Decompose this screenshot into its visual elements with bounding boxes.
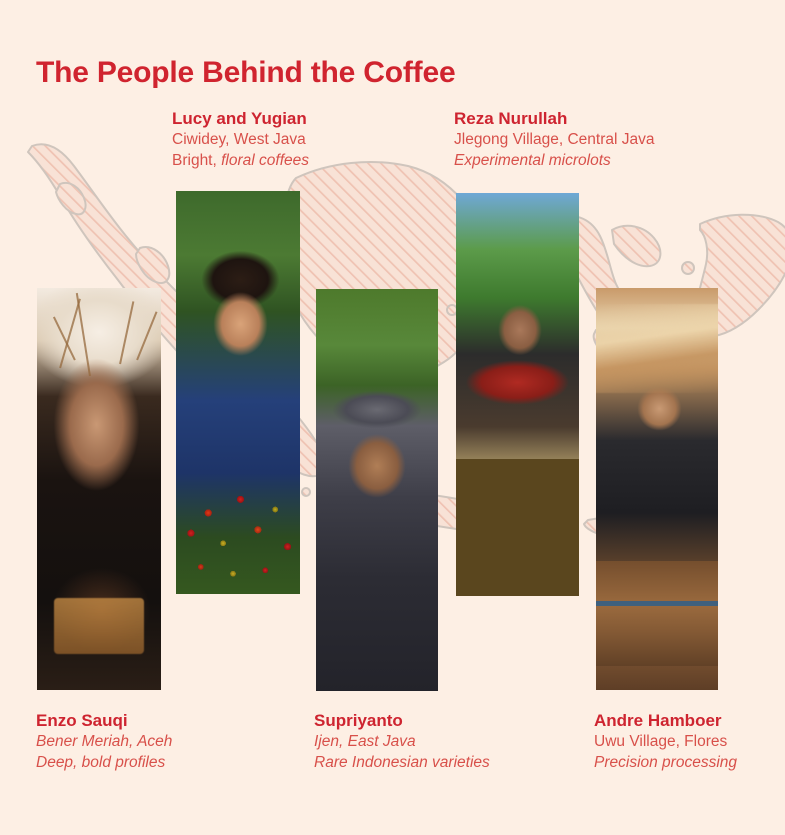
producer-location: Uwu Village, Flores <box>594 732 737 752</box>
producer-location: Jlegong Village, Central Java <box>454 130 654 150</box>
descriptor-tail: floral coffees <box>221 152 309 169</box>
producer-descriptor: Experimental microlots <box>454 151 654 171</box>
coffee-cherries <box>176 425 300 594</box>
caption-reza-nurullah: Reza Nurullah Jlegong Village, Central J… <box>454 108 654 171</box>
producer-location: Ijen, East Java <box>314 732 490 752</box>
producer-location: Bener Meriah, Aceh <box>36 732 172 752</box>
photo-supriyanto[interactable] <box>316 289 438 691</box>
poster-canvas: The People Behind the Coffee Lucy and Yu… <box>0 0 785 835</box>
drying-coffee-beans <box>456 459 579 596</box>
producer-descriptor: Rare Indonesian varieties <box>314 753 490 773</box>
caption-enzo-sauqi: Enzo Sauqi Bener Meriah, Aceh Deep, bold… <box>36 710 172 773</box>
photo-enzo-sauqi[interactable] <box>37 288 161 690</box>
photo-image <box>176 191 300 594</box>
producer-location: Ciwidey, West Java <box>172 130 309 150</box>
producer-name: Supriyanto <box>314 710 490 732</box>
producer-name: Enzo Sauqi <box>36 710 172 732</box>
photo-image <box>37 288 161 690</box>
caption-supriyanto: Supriyanto Ijen, East Java Rare Indonesi… <box>314 710 490 773</box>
caption-lucy-and-yugian: Lucy and Yugian Ciwidey, West Java Brigh… <box>172 108 309 171</box>
producer-name: Reza Nurullah <box>454 108 654 130</box>
branch-twig <box>119 301 134 364</box>
bamboo-poles <box>596 304 718 392</box>
page-title: The People Behind the Coffee <box>36 56 455 90</box>
photo-image <box>456 193 579 596</box>
producer-name: Lucy and Yugian <box>172 108 309 130</box>
blue-rack-edge <box>596 601 718 606</box>
photo-image <box>316 289 438 691</box>
producer-descriptor: Deep, bold profiles <box>36 753 172 773</box>
photo-lucy-yugian[interactable] <box>176 191 300 594</box>
photo-andre-hamboer[interactable] <box>596 288 718 690</box>
branch-twig <box>76 293 91 377</box>
sumatra-coffee-logo <box>54 598 143 654</box>
branch-twig <box>136 312 157 361</box>
photo-image <box>596 288 718 690</box>
descriptor-lead: Bright, <box>172 152 217 169</box>
producer-descriptor: Bright, floral coffees <box>172 151 309 171</box>
producer-descriptor: Precision processing <box>594 753 737 773</box>
caption-andre-hamboer: Andre Hamboer Uwu Village, Flores Precis… <box>594 710 737 773</box>
photo-reza-nurullah[interactable] <box>456 193 579 596</box>
processing-rack <box>596 561 718 666</box>
producer-name: Andre Hamboer <box>594 710 737 732</box>
